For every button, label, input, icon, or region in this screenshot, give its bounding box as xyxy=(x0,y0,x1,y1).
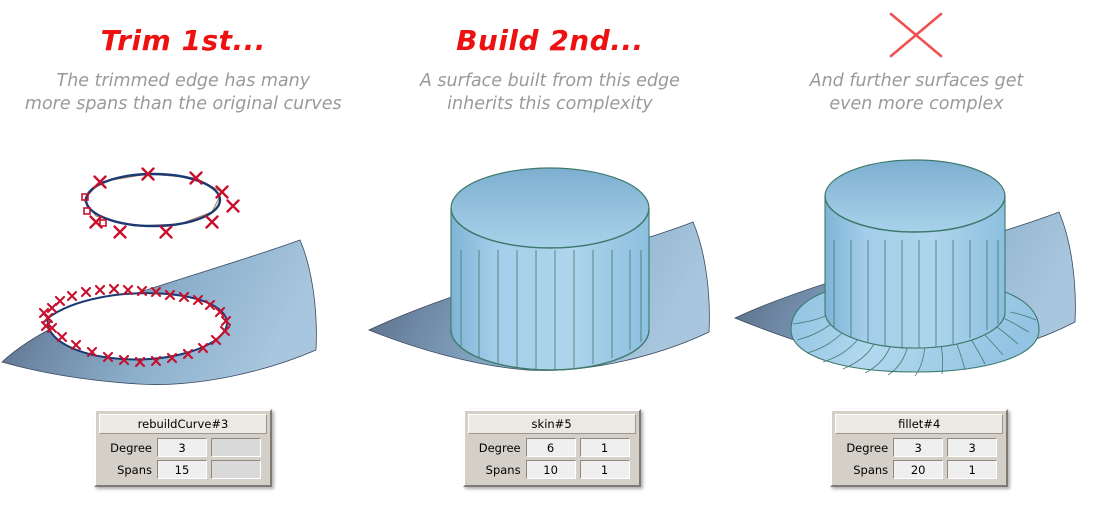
dialog-wrap-3: fillet#4 Degree 3 3 Spans 20 1 xyxy=(733,402,1100,519)
dialog-title: fillet#4 xyxy=(835,414,1003,434)
panel-1-title: Trim 1st... xyxy=(0,24,367,57)
spans-field-u[interactable]: 10 xyxy=(526,460,576,479)
dialog-title: skin#5 xyxy=(468,414,636,434)
panel-trim: Trim 1st... The trimmed edge has many mo… xyxy=(0,0,367,519)
figure-trimmed-surface xyxy=(0,140,366,402)
red-x-icon xyxy=(733,10,1100,62)
degree-label: Degree xyxy=(835,441,893,455)
dialog-wrap-2: skin#5 Degree 6 1 Spans 10 1 xyxy=(367,402,734,519)
spans-field-u[interactable]: 20 xyxy=(893,460,943,479)
panel-1-subtitle: The trimmed edge has many more spans tha… xyxy=(0,70,367,116)
viewport-trimmed-surface xyxy=(0,140,367,402)
degree-field-v[interactable] xyxy=(211,438,261,457)
dialog-row-degree: Degree 3 3 xyxy=(835,438,1003,457)
dialog-row-spans: Spans 20 1 xyxy=(835,460,1003,479)
panel-fillet: And further surfaces get even more compl… xyxy=(733,0,1100,519)
dialog-rebuild-curve[interactable]: rebuildCurve#3 Degree 3 Spans 15 xyxy=(94,409,272,487)
spans-label: Spans xyxy=(468,463,526,477)
figure-filleted-cylinder-on-surface xyxy=(733,140,1099,402)
dialog-row-degree: Degree 6 1 xyxy=(468,438,636,457)
spans-field-v[interactable] xyxy=(211,460,261,479)
spans-label: Spans xyxy=(835,463,893,477)
dialog-row-spans: Spans 15 xyxy=(99,460,267,479)
viewport-cylinder-surface xyxy=(367,140,734,402)
dialog-fillet[interactable]: fillet#4 Degree 3 3 Spans 20 1 xyxy=(830,409,1008,487)
panel-build: Build 2nd... A surface built from this e… xyxy=(367,0,734,519)
dialog-row-spans: Spans 10 1 xyxy=(468,460,636,479)
panel-1-header: Trim 1st... The trimmed edge has many mo… xyxy=(0,0,367,140)
figure-cylinder-on-surface xyxy=(367,140,733,402)
degree-field-v[interactable]: 1 xyxy=(580,438,630,457)
slide-board: Trim 1st... The trimmed edge has many mo… xyxy=(0,0,1100,519)
panel-2-title: Build 2nd... xyxy=(367,24,734,57)
degree-field-u[interactable]: 3 xyxy=(157,438,207,457)
spans-field-v[interactable]: 1 xyxy=(947,460,997,479)
dialog-skin[interactable]: skin#5 Degree 6 1 Spans 10 1 xyxy=(463,409,641,487)
panel-3-subtitle: And further surfaces get even more compl… xyxy=(733,70,1100,116)
panel-2-header: Build 2nd... A surface built from this e… xyxy=(367,0,734,140)
dialog-title: rebuildCurve#3 xyxy=(99,414,267,434)
panel-3-header: And further surfaces get even more compl… xyxy=(733,0,1100,140)
degree-field-v[interactable]: 3 xyxy=(947,438,997,457)
dialog-wrap-1: rebuildCurve#3 Degree 3 Spans 15 xyxy=(0,402,367,519)
degree-field-u[interactable]: 3 xyxy=(893,438,943,457)
viewport-filleted-cylinder xyxy=(733,140,1100,402)
degree-label: Degree xyxy=(99,441,157,455)
degree-field-u[interactable]: 6 xyxy=(526,438,576,457)
dialog-row-degree: Degree 3 xyxy=(99,438,267,457)
spans-label: Spans xyxy=(99,463,157,477)
panel-2-subtitle: A surface built from this edge inherits … xyxy=(367,70,734,116)
degree-label: Degree xyxy=(468,441,526,455)
spans-field-v[interactable]: 1 xyxy=(580,460,630,479)
spans-field-u[interactable]: 15 xyxy=(157,460,207,479)
